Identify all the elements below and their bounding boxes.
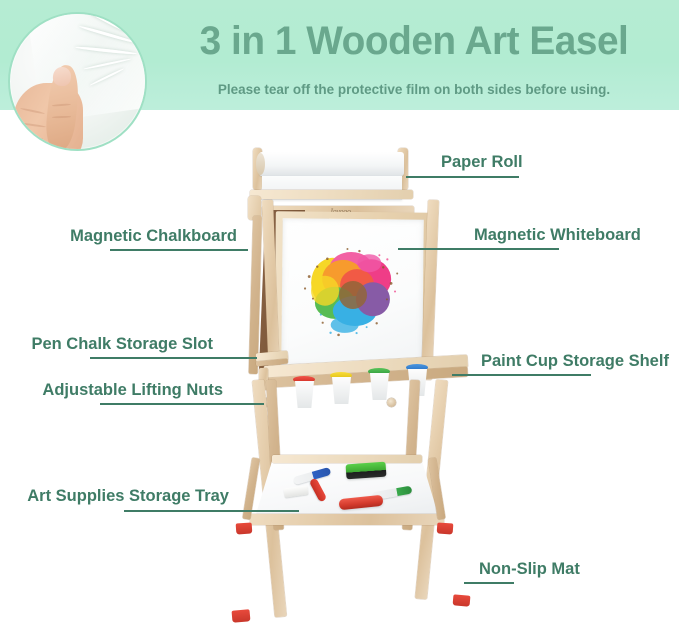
leader-line-pen-chalk-slot <box>90 357 257 359</box>
leader-line-paint-cup-shelf <box>452 374 591 376</box>
non-slip-foot-right-front <box>453 594 471 606</box>
leader-line-supplies-tray <box>124 510 299 512</box>
easel-product-image: Joyooo <box>0 0 679 634</box>
callout-magnetic-whiteboard: Magnetic Whiteboard <box>474 226 641 245</box>
tray-rail-back <box>272 455 422 463</box>
paper-roll <box>259 152 404 176</box>
leader-line-magnetic-chalkboard <box>110 249 248 251</box>
callout-magnetic-chalkboard: Magnetic Chalkboard <box>0 227 237 246</box>
product-infographic: 3 in 1 Wooden Art Easel Please tear off … <box>0 0 679 634</box>
callout-supplies-tray: Art Supplies Storage Tray <box>0 487 229 506</box>
paint-cup-body-green <box>370 373 389 400</box>
adjustable-lifting-nut-right <box>387 398 396 407</box>
non-slip-foot-left-front <box>232 609 251 623</box>
leader-line-magnetic-whiteboard <box>398 248 559 250</box>
callout-paper-roll: Paper Roll <box>441 153 523 172</box>
tray-rail-front <box>250 514 444 525</box>
green-eraser <box>346 462 387 480</box>
callout-pen-chalk-slot: Pen Chalk Storage Slot <box>0 335 213 354</box>
leader-line-lifting-nuts <box>100 403 264 405</box>
callout-lifting-nuts: Adjustable Lifting Nuts <box>0 381 223 400</box>
rainbow-watercolor-splash-artwork <box>286 236 415 349</box>
non-slip-foot-left-rear <box>236 522 253 534</box>
callout-non-slip-mat: Non-Slip Mat <box>479 560 580 579</box>
paper-roll-core <box>256 153 265 175</box>
paint-cup-body-red <box>295 381 314 408</box>
top-rail <box>250 190 413 199</box>
non-slip-foot-right-rear <box>437 522 454 534</box>
callout-paint-cup-shelf: Paint Cup Storage Shelf <box>481 352 669 371</box>
leader-line-paper-roll <box>406 176 519 178</box>
leader-line-non-slip-mat <box>464 582 514 584</box>
paint-cup-body-yellow <box>332 377 351 404</box>
